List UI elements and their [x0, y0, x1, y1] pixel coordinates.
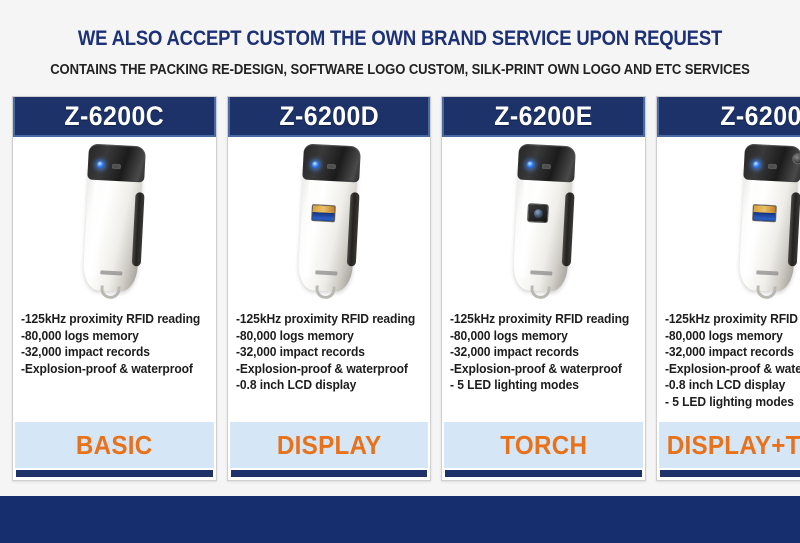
page-title: WE ALSO ACCEPT CUSTOM THE OWN BRAND SERV…: [48, 27, 752, 51]
page-subtitle: CONTAINS THE PACKING RE-DESIGN, SOFTWARE…: [40, 62, 760, 78]
card-footer-bar: [16, 470, 213, 477]
product-tag-band: DISPLAY+TORCH: [659, 422, 800, 468]
feature-item: -Explosion-proof & waterproof: [450, 361, 629, 378]
rfid-reader-display-torch-icon: [729, 141, 800, 303]
feature-item: -32,000 impact records: [450, 344, 629, 361]
card-footer-bar: [445, 470, 642, 477]
feature-item: -125kHz proximity RFID reading: [236, 311, 415, 328]
rfid-reader-display-icon: [288, 141, 370, 303]
model-name: Z-6200C: [64, 101, 164, 132]
feature-item: -0.8 inch LCD display: [665, 377, 800, 394]
product-tag-band: DISPLAY: [230, 422, 429, 468]
feature-item: - 5 LED lighting modes: [450, 377, 629, 394]
card-footer-bar: [660, 470, 800, 477]
feature-list: -125kHz proximity RFID reading -80,000 l…: [228, 305, 431, 422]
product-tag-band: BASIC: [15, 422, 214, 468]
product-photo: [657, 137, 800, 305]
product-photo: [228, 137, 431, 305]
card-header: Z-6200D: [228, 97, 431, 137]
product-tag: BASIC: [76, 430, 153, 461]
product-tag: DISPLAY+TORCH: [667, 430, 800, 461]
feature-item: -32,000 impact records: [21, 344, 200, 361]
feature-item: -0.8 inch LCD display: [236, 377, 415, 394]
feature-item: -125kHz proximity RFID reading: [665, 311, 800, 328]
model-name: Z-6200D: [279, 101, 379, 132]
lcd-display-icon: [752, 204, 777, 222]
feature-item: -80,000 logs memory: [236, 328, 415, 345]
feature-item: -80,000 logs memory: [21, 328, 200, 345]
product-comparison-page: WE ALSO ACCEPT CUSTOM THE OWN BRAND SERV…: [0, 0, 800, 543]
page-footer-bar: [0, 496, 800, 543]
feature-item: -125kHz proximity RFID reading: [450, 311, 629, 328]
card-header: Z-6200C: [13, 97, 216, 137]
feature-list: -125kHz proximity RFID reading -80,000 l…: [13, 305, 216, 422]
product-tag-band: TORCH: [444, 422, 643, 468]
lcd-display-icon: [311, 204, 336, 222]
product-photo: [442, 137, 645, 305]
rfid-reader-torch-icon: [503, 141, 585, 303]
product-card-z6200x[interactable]: Z-6200X -125kHz proximi: [656, 96, 800, 481]
product-card-grid: Z-6200C -125kHz proximity RFID reading -…: [12, 96, 788, 481]
product-tag: DISPLAY: [277, 430, 382, 461]
feature-list: -125kHz proximity RFID reading -80,000 l…: [657, 305, 800, 422]
feature-item: -125kHz proximity RFID reading: [21, 311, 200, 328]
feature-item: -Explosion-proof & waterproof: [236, 361, 415, 378]
product-card-z6200e[interactable]: Z-6200E -125kHz proximity RFID reading -…: [441, 96, 646, 481]
feature-item: -80,000 logs memory: [665, 328, 800, 345]
feature-list: -125kHz proximity RFID reading -80,000 l…: [442, 305, 645, 422]
feature-item: -32,000 impact records: [236, 344, 415, 361]
model-name: Z-6200X: [720, 101, 800, 132]
product-card-z6200c[interactable]: Z-6200C -125kHz proximity RFID reading -…: [12, 96, 217, 481]
card-header: Z-6200X: [657, 97, 800, 137]
card-header: Z-6200E: [442, 97, 645, 137]
feature-item: -Explosion-proof & waterproof: [665, 361, 800, 378]
feature-item: -80,000 logs memory: [450, 328, 629, 345]
card-footer-bar: [231, 470, 428, 477]
rfid-reader-basic-icon: [73, 141, 155, 303]
feature-item: - 5 LED lighting modes: [665, 394, 800, 411]
product-photo: [13, 137, 216, 305]
feature-item: -Explosion-proof & waterproof: [21, 361, 200, 378]
torch-module-icon: [527, 203, 549, 223]
model-name: Z-6200E: [494, 101, 592, 132]
feature-item: -32,000 impact records: [665, 344, 800, 361]
product-tag: TORCH: [500, 430, 587, 461]
product-card-z6200d[interactable]: Z-6200D -125kHz proximity RFID rea: [227, 96, 432, 481]
